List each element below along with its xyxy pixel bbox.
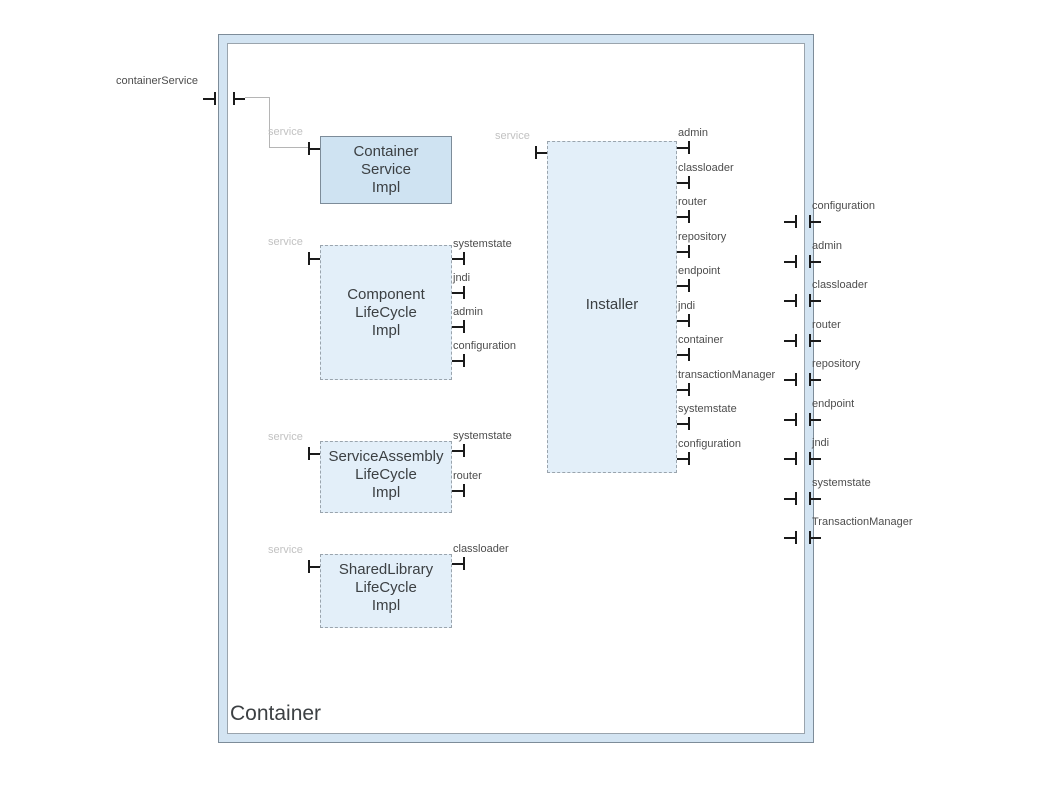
boundary-port-inner-admin-1-bar (795, 255, 797, 268)
wire-containerservice-v (269, 97, 270, 148)
boundary-port-inner-router-3-bar (795, 334, 797, 347)
port-label-installer-endpoint: endpoint (678, 266, 720, 277)
boundary-port-inner-systemstate-7-bar (795, 492, 797, 505)
port-installer-transactionManager-bar (688, 383, 690, 396)
port-component-lifecycle-impl-systemstate-bar (463, 252, 465, 265)
port-label-component-lifecycle-impl-systemstate: systemstate (453, 239, 512, 250)
diagram-canvas: ContainercontainerServiceContainer Servi… (0, 0, 1058, 794)
port-label-shared-library-lifecycle-impl-service: service (268, 545, 303, 556)
port-shared-library-lifecycle-impl-service-stem (308, 566, 320, 568)
port-installer-service-stem (535, 152, 547, 154)
component-shared-library-lifecycle-impl[interactable] (320, 554, 452, 628)
component-service-assembly-lifecycle-impl[interactable] (320, 441, 452, 513)
component-component-lifecycle-impl[interactable] (320, 245, 452, 380)
container-title-label: Container (230, 702, 321, 726)
port-installer-router-bar (688, 210, 690, 223)
port-label-installer-container: container (678, 335, 723, 346)
port-label-component-lifecycle-impl-service: service (268, 237, 303, 248)
port-label-installer-router: router (678, 197, 707, 208)
port-label-installer-systemstate: systemstate (678, 404, 737, 415)
boundary-port-outer-systemstate-7-stem (809, 498, 821, 500)
port-label-component-lifecycle-impl-configuration: configuration (453, 341, 516, 352)
port-service-assembly-lifecycle-impl-systemstate-bar (463, 444, 465, 457)
boundary-port-inner-repository-4-bar (795, 373, 797, 386)
component-container-service-impl[interactable] (320, 136, 452, 204)
port-label-installer-jndi: jndi (678, 301, 695, 312)
port-label-installer-configuration: configuration (678, 439, 741, 450)
port-installer-jndi-bar (688, 314, 690, 327)
port-installer-repository-bar (688, 245, 690, 258)
port-shared-library-lifecycle-impl-classloader-bar (463, 557, 465, 570)
external-port-containerservice-outer-bar (214, 92, 216, 105)
port-label-installer-service: service (495, 131, 530, 142)
port-label-component-lifecycle-impl-jndi: jndi (453, 273, 470, 284)
boundary-port-label-admin-1: admin (812, 241, 842, 252)
component-installer[interactable] (547, 141, 677, 473)
port-label-shared-library-lifecycle-impl-classloader: classloader (453, 544, 509, 555)
port-component-lifecycle-impl-service-stem (308, 258, 320, 260)
boundary-port-outer-repository-4-stem (809, 379, 821, 381)
port-installer-endpoint-bar (688, 279, 690, 292)
boundary-port-label-systemstate-7: systemstate (812, 478, 871, 489)
port-label-service-assembly-lifecycle-impl-router: router (453, 471, 482, 482)
port-installer-classloader-bar (688, 176, 690, 189)
port-installer-systemstate-bar (688, 417, 690, 430)
port-installer-configuration-bar (688, 452, 690, 465)
port-component-lifecycle-impl-jndi-bar (463, 286, 465, 299)
boundary-port-inner-endpoint-5-bar (795, 413, 797, 426)
boundary-port-outer-jndi-6-stem (809, 458, 821, 460)
wire-containerservice-h2 (269, 147, 308, 148)
boundary-port-inner-jndi-6-bar (795, 452, 797, 465)
port-label-component-lifecycle-impl-admin: admin (453, 307, 483, 318)
port-label-installer-classloader: classloader (678, 163, 734, 174)
wire-containerservice-h1 (245, 97, 270, 98)
boundary-port-outer-TransactionManager-8-stem (809, 537, 821, 539)
boundary-port-outer-router-3-stem (809, 340, 821, 342)
port-label-installer-admin: admin (678, 128, 708, 139)
boundary-port-label-router-3: router (812, 320, 841, 331)
port-installer-admin-bar (688, 141, 690, 154)
boundary-port-label-endpoint-5: endpoint (812, 399, 854, 410)
container-interior (227, 43, 805, 734)
external-port-containerservice-inner-stem (233, 98, 245, 100)
port-component-lifecycle-impl-configuration-bar (463, 354, 465, 367)
boundary-port-inner-TransactionManager-8-bar (795, 531, 797, 544)
port-service-assembly-lifecycle-impl-router-bar (463, 484, 465, 497)
port-label-installer-transactionManager: transactionManager (678, 370, 775, 381)
boundary-port-label-classloader-2: classloader (812, 280, 868, 291)
port-installer-container-bar (688, 348, 690, 361)
boundary-port-label-repository-4: repository (812, 359, 860, 370)
port-label-installer-repository: repository (678, 232, 726, 243)
external-port-label-containerservice: containerService (116, 76, 198, 87)
boundary-port-label-configuration-0: configuration (812, 201, 875, 212)
boundary-port-outer-endpoint-5-stem (809, 419, 821, 421)
boundary-port-label-TransactionManager-8: TransactionManager (812, 517, 912, 528)
port-label-service-assembly-lifecycle-impl-service: service (268, 432, 303, 443)
boundary-port-outer-admin-1-stem (809, 261, 821, 263)
port-label-container-service-impl-service: service (268, 127, 303, 138)
boundary-port-outer-configuration-0-stem (809, 221, 821, 223)
port-service-assembly-lifecycle-impl-service-stem (308, 453, 320, 455)
boundary-port-outer-classloader-2-stem (809, 300, 821, 302)
boundary-port-inner-classloader-2-bar (795, 294, 797, 307)
port-container-service-impl-service-stem (308, 148, 320, 150)
boundary-port-label-jndi-6: jndi (812, 438, 829, 449)
boundary-port-inner-configuration-0-bar (795, 215, 797, 228)
port-component-lifecycle-impl-admin-bar (463, 320, 465, 333)
port-label-service-assembly-lifecycle-impl-systemstate: systemstate (453, 431, 512, 442)
